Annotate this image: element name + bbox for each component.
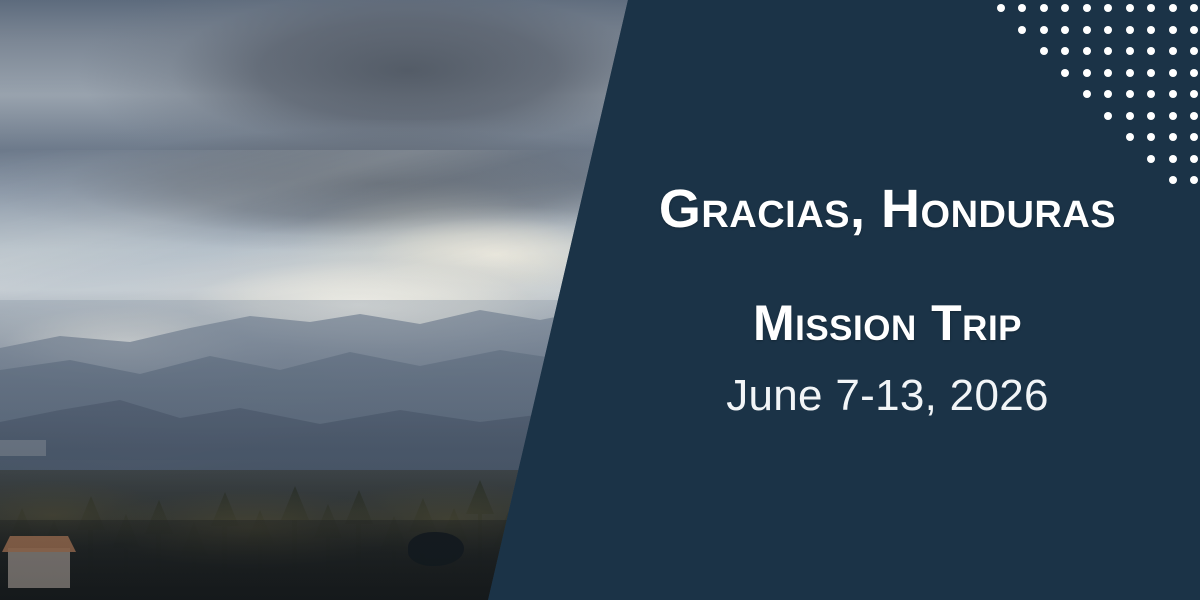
text-block: Gracias, Honduras Mission Trip June 7-13… — [575, 0, 1200, 600]
trip-dates: June 7-13, 2026 — [726, 374, 1049, 418]
mission-trip-banner: Gracias, Honduras Mission Trip June 7-13… — [0, 0, 1200, 600]
page-title: Gracias, Honduras — [659, 182, 1116, 236]
subtitle: Mission Trip — [753, 298, 1022, 348]
